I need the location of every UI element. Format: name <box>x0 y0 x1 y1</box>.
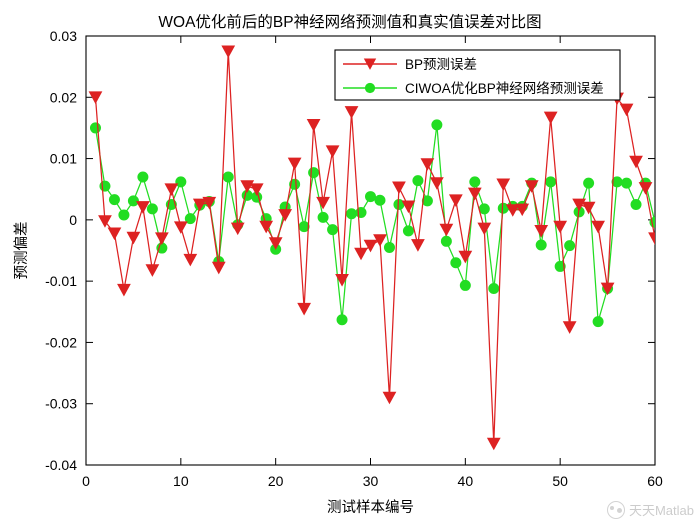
data-point-marker <box>432 120 442 130</box>
y-tick-label: -0.04 <box>45 457 77 473</box>
data-point-marker <box>631 199 641 209</box>
x-tick-label: 20 <box>268 473 284 489</box>
data-point-marker <box>327 225 337 235</box>
x-tick-label: 30 <box>363 473 379 489</box>
data-point-marker <box>441 236 451 246</box>
y-tick-label: 0.02 <box>50 89 77 105</box>
data-point-marker <box>403 226 413 236</box>
legend-label: BP预测误差 <box>405 57 477 72</box>
data-point-marker <box>489 283 499 293</box>
y-tick-label: -0.02 <box>45 334 77 350</box>
y-tick-label: 0.03 <box>50 28 77 44</box>
data-point-marker <box>346 209 356 219</box>
data-point-marker <box>546 177 556 187</box>
data-point-marker <box>337 315 347 325</box>
data-point-marker <box>536 240 546 250</box>
chart-figure: WOA优化前后的BP神经网络预测值和真实值误差对比图 0102030405060… <box>0 0 700 525</box>
data-point-marker <box>138 172 148 182</box>
data-point-marker <box>147 204 157 214</box>
data-point-marker <box>375 195 385 205</box>
data-point-marker <box>621 178 631 188</box>
data-point-marker <box>384 242 394 252</box>
x-tick-label: 40 <box>458 473 474 489</box>
x-tick-label: 10 <box>173 473 189 489</box>
data-point-marker <box>470 177 480 187</box>
y-tick-label: -0.03 <box>45 396 77 412</box>
x-tick-label: 50 <box>552 473 568 489</box>
data-point-marker <box>460 280 470 290</box>
data-point-marker <box>119 210 129 220</box>
x-tick-label: 0 <box>82 473 90 489</box>
data-point-marker <box>318 212 328 222</box>
data-point-marker <box>128 196 138 206</box>
legend-label: CIWOA优化BP神经网络预测误差 <box>405 81 604 96</box>
y-tick-label: -0.01 <box>45 273 77 289</box>
data-point-marker <box>451 258 461 268</box>
data-point-marker <box>413 176 423 186</box>
x-axis-title: 测试样本编号 <box>327 499 414 516</box>
data-point-marker <box>223 172 233 182</box>
data-point-marker <box>584 178 594 188</box>
data-point-marker <box>90 123 100 133</box>
x-tick-label: 60 <box>647 473 663 489</box>
data-point-marker <box>565 241 575 251</box>
y-axis-title: 预测偏差 <box>13 222 30 280</box>
data-point-marker <box>365 191 375 201</box>
data-point-marker <box>309 168 319 178</box>
data-point-marker <box>593 316 603 326</box>
y-tick-label: 0.01 <box>50 151 77 167</box>
plot-canvas: 0102030405060-0.04-0.03-0.02-0.0100.010.… <box>0 0 700 525</box>
data-point-marker <box>479 204 489 214</box>
data-point-marker <box>176 177 186 187</box>
legend-circle-icon <box>365 83 375 93</box>
data-point-marker <box>109 195 119 205</box>
legend[interactable]: BP预测误差CIWOA优化BP神经网络预测误差 <box>335 50 620 100</box>
y-tick-label: 0 <box>69 212 77 228</box>
